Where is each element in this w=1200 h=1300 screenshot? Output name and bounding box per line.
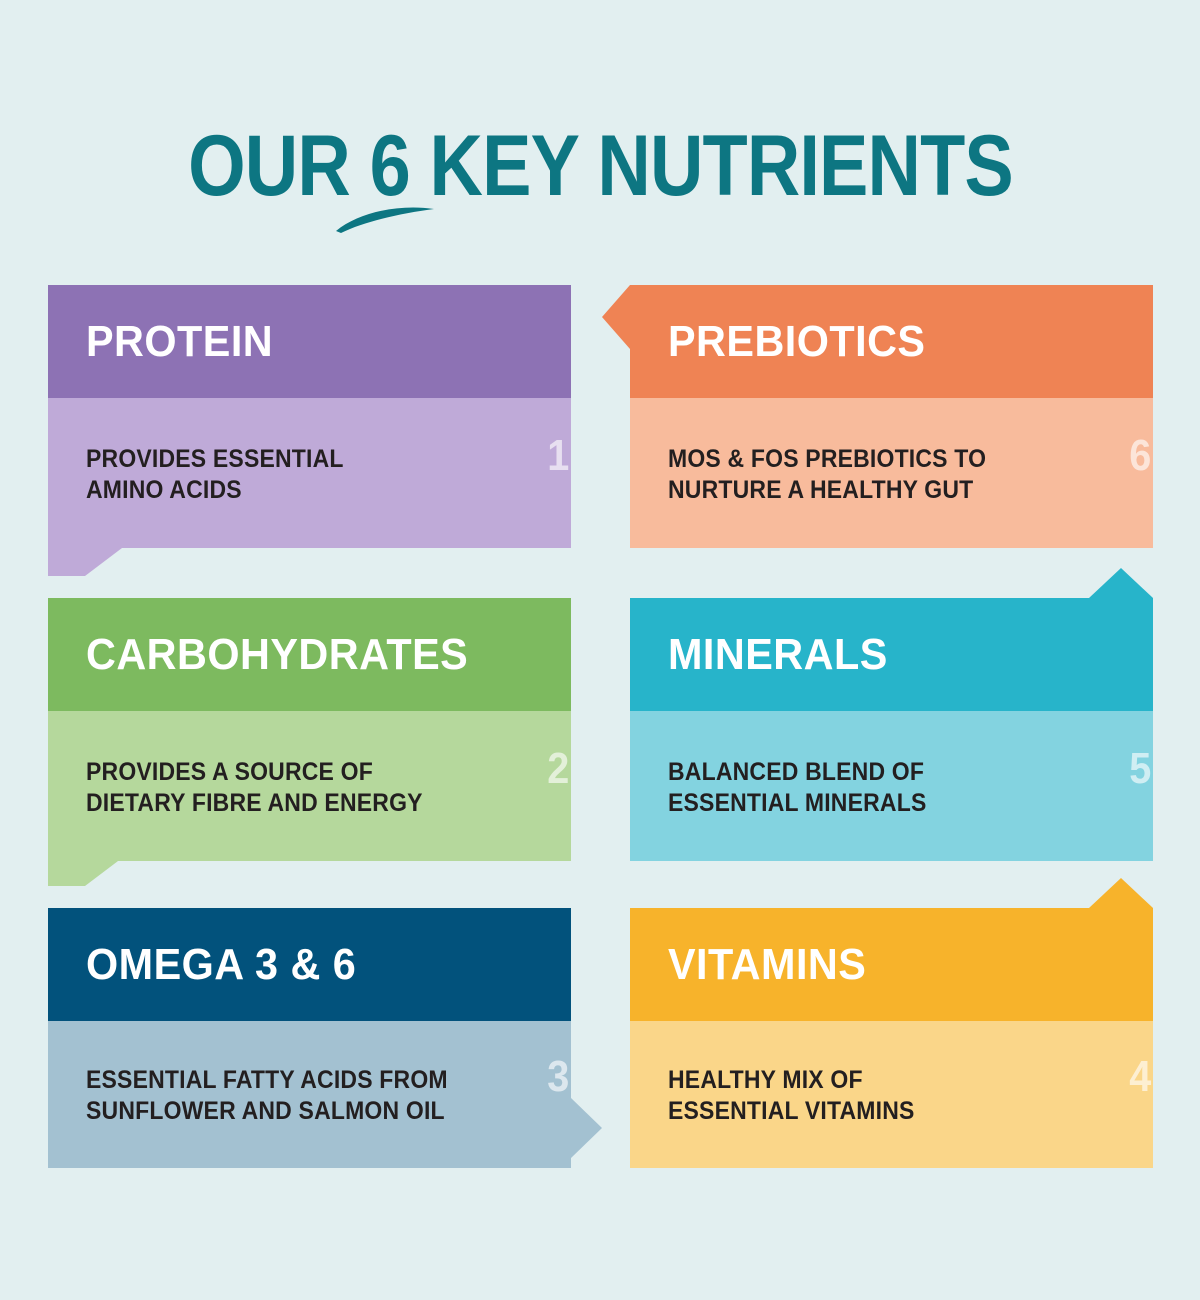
card-header-prebiotics: PREBIOTICS [630,285,1153,398]
card-body-carbohydrates: PROVIDES A SOURCE OF DIETARY FIBRE AND E… [48,711,571,861]
card-description: PROVIDES ESSENTIAL AMINO ACIDS [86,444,344,506]
down-arrow-icon [48,858,122,886]
card-header-protein: PROTEIN [48,285,571,398]
card-number-badge: 3 [547,1055,569,1099]
card-description: HEALTHY MIX OF ESSENTIAL VITAMINS [668,1065,915,1127]
card-number-badge: 1 [547,434,569,478]
down-arrow-icon [48,548,122,576]
card-heading-label: MINERALS [668,633,888,677]
nutrient-card-prebiotics[interactable]: PREBIOTICS MOS & FOS PREBIOTICS TO NURTU… [630,285,1153,548]
nutrient-card-protein[interactable]: PROTEIN PROVIDES ESSENTIAL AMINO ACIDS 1 [48,285,571,548]
card-heading-label: CARBOHYDRATES [86,633,468,677]
card-header-omega: OMEGA 3 & 6 [48,908,571,1021]
card-body-prebiotics: MOS & FOS PREBIOTICS TO NURTURE A HEALTH… [630,398,1153,548]
card-number-badge: 2 [547,747,569,791]
nutrient-card-carbohydrates[interactable]: CARBOHYDRATES PROVIDES A SOURCE OF DIETA… [48,598,571,861]
card-body-omega: ESSENTIAL FATTY ACIDS FROM SUNFLOWER AND… [48,1021,571,1168]
right-arrow-icon [571,1098,602,1158]
nutrient-card-omega[interactable]: OMEGA 3 & 6 ESSENTIAL FATTY ACIDS FROM S… [48,908,571,1168]
card-body-vitamins: HEALTHY MIX OF ESSENTIAL VITAMINS 4 [630,1021,1153,1168]
page-title: OUR 6 KEY NUTRIENTS [188,118,1013,214]
card-number-badge: 6 [1129,434,1151,478]
card-description: BALANCED BLEND OF ESSENTIAL MINERALS [668,757,926,819]
card-number-badge: 5 [1129,747,1151,791]
card-heading-label: VITAMINS [668,943,866,987]
card-description: ESSENTIAL FATTY ACIDS FROM SUNFLOWER AND… [86,1065,448,1127]
card-description: MOS & FOS PREBIOTICS TO NURTURE A HEALTH… [668,444,986,506]
card-number-badge: 4 [1129,1055,1151,1099]
up-arrow-icon [1089,568,1153,598]
card-heading-label: PROTEIN [86,320,273,364]
card-heading-label: PREBIOTICS [668,320,925,364]
card-description: PROVIDES A SOURCE OF DIETARY FIBRE AND E… [86,757,423,819]
card-body-minerals: BALANCED BLEND OF ESSENTIAL MINERALS 5 [630,711,1153,861]
card-header-carbohydrates: CARBOHYDRATES [48,598,571,711]
infographic-page: OUR 6 KEY NUTRIENTS PROTEIN PROVIDES ESS… [0,0,1200,1300]
left-arrow-icon [602,285,630,349]
card-body-protein: PROVIDES ESSENTIAL AMINO ACIDS 1 [48,398,571,548]
page-title-block: OUR 6 KEY NUTRIENTS [0,118,1200,214]
nutrient-card-minerals[interactable]: MINERALS BALANCED BLEND OF ESSENTIAL MIN… [630,598,1153,861]
nutrient-card-vitamins[interactable]: VITAMINS HEALTHY MIX OF ESSENTIAL VITAMI… [630,908,1153,1168]
up-arrow-icon [1089,878,1153,908]
card-heading-label: OMEGA 3 & 6 [86,943,356,987]
card-header-vitamins: VITAMINS [630,908,1153,1021]
card-header-minerals: MINERALS [630,598,1153,711]
